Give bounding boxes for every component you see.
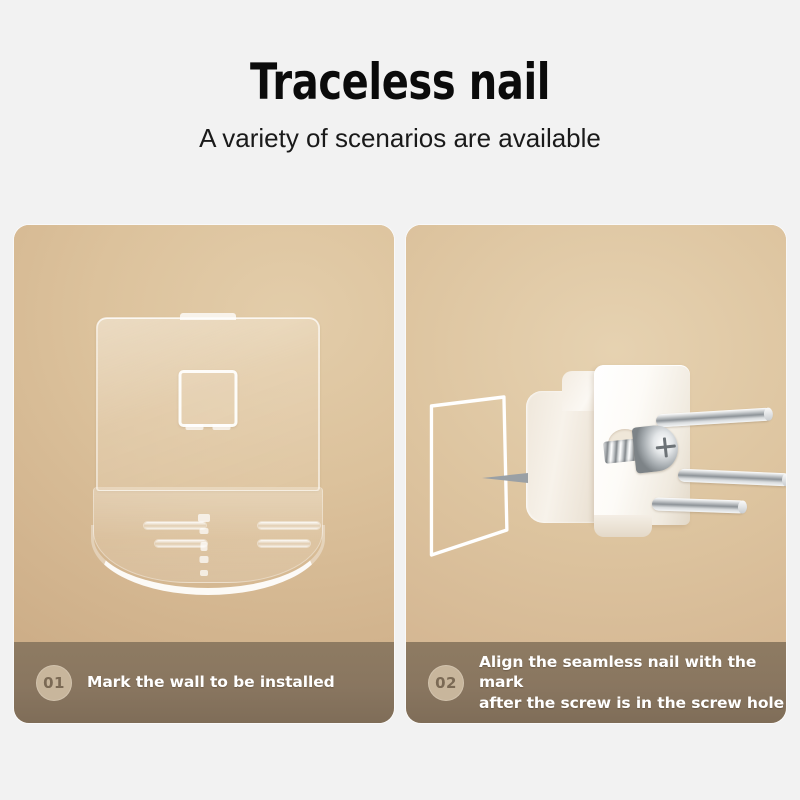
- step-caption-text: Align the seamless nail with the mark af…: [479, 652, 786, 712]
- slot-mark: [155, 540, 207, 547]
- center-tick: [200, 556, 209, 563]
- square-nub-left: [186, 424, 204, 430]
- step-number-badge: 02: [428, 665, 464, 701]
- step-panel-02: 02 Align the seamless nail with the mark…: [406, 225, 786, 723]
- slot-mark: [258, 540, 310, 547]
- step-caption-bar: 02 Align the seamless nail with the mark…: [406, 642, 786, 723]
- caption-line-2: after the screw is in the screw hole: [479, 693, 786, 713]
- center-tick: [200, 528, 209, 534]
- slot-mark: [258, 522, 320, 529]
- infographic-page: Traceless nail A variety of scenarios ar…: [0, 0, 800, 800]
- phillips-screw: [602, 423, 680, 476]
- step-caption-text: Mark the wall to be installed: [87, 672, 335, 692]
- step-number-badge: 01: [36, 665, 72, 701]
- template-top-tab: [180, 313, 236, 320]
- slot-mark: [144, 522, 206, 529]
- bracket-spike: [482, 473, 528, 483]
- square-nub-right: [213, 424, 231, 430]
- wall-mount-template-artwork: [14, 225, 394, 642]
- header: Traceless nail A variety of scenarios ar…: [0, 0, 800, 154]
- center-tick: [200, 570, 208, 576]
- page-title: Traceless nail: [80, 56, 720, 109]
- center-tick: [198, 514, 210, 522]
- steps-container: 01 Mark the wall to be installed: [14, 225, 786, 723]
- template-body: [96, 317, 320, 491]
- caption-line-1: Align the seamless nail with the mark: [479, 653, 756, 691]
- step-caption-bar: 01 Mark the wall to be installed: [14, 642, 394, 723]
- caption-line-1: Mark the wall to be installed: [87, 673, 335, 691]
- center-tick: [201, 542, 208, 551]
- page-subtitle: A variety of scenarios are available: [0, 123, 800, 154]
- marking-square-window: [179, 370, 238, 427]
- seamless-nail-bracket: [526, 365, 766, 555]
- step-panel-01: 01 Mark the wall to be installed: [14, 225, 394, 723]
- bracket-foot: [594, 515, 652, 537]
